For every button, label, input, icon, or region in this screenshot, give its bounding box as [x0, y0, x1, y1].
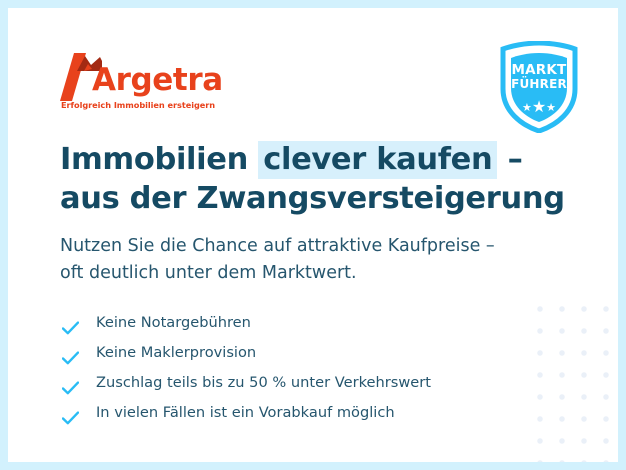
badge-label: MARKT FÜHRER — [497, 63, 581, 91]
badge-line-1: MARKT — [497, 63, 581, 77]
list-item-label: Zuschlag teils bis zu 50 % unter Verkehr… — [96, 374, 431, 391]
badge-stars: ★★★ — [497, 99, 581, 116]
feature-list: Keine Notargebühren Keine Maklerprovisio… — [60, 308, 560, 428]
subheading-line-2: oft deutlich unter dem Marktwert. — [60, 260, 580, 287]
page-title: Immobilien clever kaufen – aus der Zwang… — [60, 140, 580, 218]
list-item-label: Keine Maklerprovision — [96, 344, 256, 361]
check-icon — [62, 376, 79, 390]
list-item-label: Keine Notargebühren — [96, 314, 251, 331]
list-item: Keine Maklerprovision — [60, 338, 560, 368]
list-item-label: In vielen Fällen ist ein Vorabkauf mögli… — [96, 404, 395, 421]
market-leader-badge: MARKT FÜHRER ★★★ — [497, 41, 581, 133]
list-item: In vielen Fällen ist ein Vorabkauf mögli… — [60, 398, 560, 428]
list-item: Keine Notargebühren — [60, 308, 560, 338]
check-icon — [62, 346, 79, 360]
logo-tagline: Erfolgreich Immobilien ersteigern — [61, 100, 215, 110]
headline-line-1: Immobilien clever kaufen – — [60, 141, 523, 179]
logo-wordmark: Argetra — [92, 62, 223, 98]
star-icon: ★ — [546, 102, 556, 114]
argetra-logo[interactable]: Argetra Erfolgreich Immobilien ersteiger… — [60, 50, 210, 112]
headline-suffix: – — [497, 142, 522, 177]
check-icon — [62, 406, 79, 420]
list-item: Zuschlag teils bis zu 50 % unter Verkehr… — [60, 368, 560, 398]
headline-prefix: Immobilien — [60, 142, 258, 177]
headline-line-2: aus der Zwangsversteigerung — [60, 179, 580, 218]
promo-banner: Argetra Erfolgreich Immobilien ersteiger… — [8, 8, 618, 462]
star-icon: ★ — [532, 99, 546, 116]
check-icon — [62, 316, 79, 330]
headline-highlight: clever kaufen — [258, 141, 497, 179]
subheading-line-1: Nutzen Sie die Chance auf attraktive Kau… — [60, 233, 580, 260]
badge-line-2: FÜHRER — [497, 78, 581, 91]
star-icon: ★ — [522, 102, 532, 114]
subheading: Nutzen Sie die Chance auf attraktive Kau… — [60, 233, 580, 286]
